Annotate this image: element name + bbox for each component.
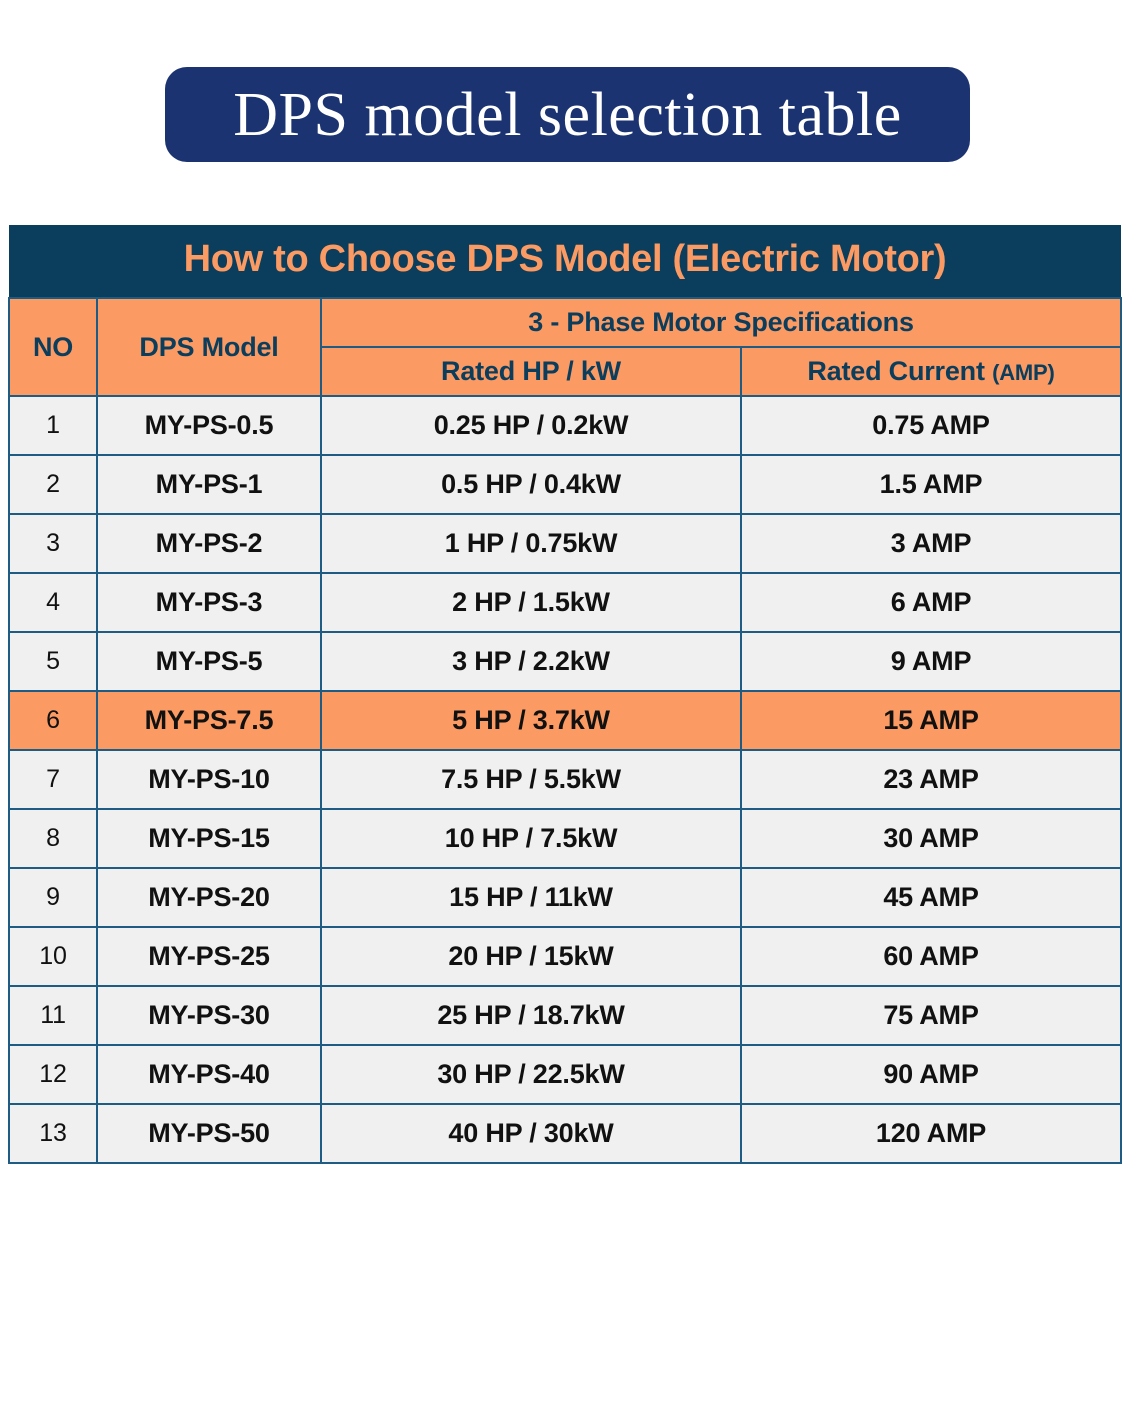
cell-rated-hp-kw: 1 HP / 0.75kW [321, 514, 741, 573]
table-row: 6MY-PS-7.55 HP / 3.7kW15 AMP [9, 691, 1121, 750]
column-group-header-motor-specs: 3 - Phase Motor Specifications [321, 298, 1121, 347]
cell-no: 13 [9, 1104, 97, 1163]
cell-rated-current: 120 AMP [741, 1104, 1121, 1163]
cell-rated-current: 0.75 AMP [741, 396, 1121, 455]
cell-dps-model: MY-PS-7.5 [97, 691, 321, 750]
column-header-rated-current: Rated Current (AMP) [741, 347, 1121, 396]
cell-no: 10 [9, 927, 97, 986]
cell-dps-model: MY-PS-20 [97, 868, 321, 927]
cell-rated-current: 23 AMP [741, 750, 1121, 809]
page-title: DPS model selection table [233, 84, 902, 146]
cell-rated-hp-kw: 7.5 HP / 5.5kW [321, 750, 741, 809]
cell-no: 12 [9, 1045, 97, 1104]
table-row: 9MY-PS-2015 HP / 11kW45 AMP [9, 868, 1121, 927]
page-title-banner: DPS model selection table [165, 67, 970, 162]
cell-rated-hp-kw: 0.25 HP / 0.2kW [321, 396, 741, 455]
cell-no: 3 [9, 514, 97, 573]
cell-dps-model: MY-PS-40 [97, 1045, 321, 1104]
cell-rated-hp-kw: 2 HP / 1.5kW [321, 573, 741, 632]
cell-rated-hp-kw: 10 HP / 7.5kW [321, 809, 741, 868]
cell-rated-hp-kw: 0.5 HP / 0.4kW [321, 455, 741, 514]
cell-no: 1 [9, 396, 97, 455]
dps-model-selection-table-container: How to Choose DPS Model (Electric Motor)… [8, 225, 1120, 1164]
table-body: 1MY-PS-0.50.25 HP / 0.2kW0.75 AMP2MY-PS-… [9, 396, 1121, 1163]
table-row: 3MY-PS-21 HP / 0.75kW3 AMP [9, 514, 1121, 573]
cell-dps-model: MY-PS-5 [97, 632, 321, 691]
cell-no: 9 [9, 868, 97, 927]
rated-current-unit: (AMP) [992, 360, 1055, 385]
table-row: 8MY-PS-1510 HP / 7.5kW30 AMP [9, 809, 1121, 868]
cell-no: 7 [9, 750, 97, 809]
cell-dps-model: MY-PS-15 [97, 809, 321, 868]
cell-rated-current: 9 AMP [741, 632, 1121, 691]
cell-rated-hp-kw: 15 HP / 11kW [321, 868, 741, 927]
cell-rated-hp-kw: 25 HP / 18.7kW [321, 986, 741, 1045]
cell-no: 4 [9, 573, 97, 632]
cell-rated-hp-kw: 3 HP / 2.2kW [321, 632, 741, 691]
table-row: 5MY-PS-53 HP / 2.2kW9 AMP [9, 632, 1121, 691]
cell-dps-model: MY-PS-30 [97, 986, 321, 1045]
table-caption: How to Choose DPS Model (Electric Motor) [9, 225, 1121, 298]
cell-rated-hp-kw: 30 HP / 22.5kW [321, 1045, 741, 1104]
table-row: 13MY-PS-5040 HP / 30kW120 AMP [9, 1104, 1121, 1163]
cell-rated-current: 90 AMP [741, 1045, 1121, 1104]
dps-model-selection-table: How to Choose DPS Model (Electric Motor)… [8, 225, 1122, 1164]
column-header-no: NO [9, 298, 97, 396]
cell-dps-model: MY-PS-3 [97, 573, 321, 632]
cell-rated-hp-kw: 5 HP / 3.7kW [321, 691, 741, 750]
cell-rated-current: 1.5 AMP [741, 455, 1121, 514]
cell-dps-model: MY-PS-10 [97, 750, 321, 809]
table-row: 4MY-PS-32 HP / 1.5kW6 AMP [9, 573, 1121, 632]
table-header: How to Choose DPS Model (Electric Motor)… [9, 225, 1121, 396]
cell-rated-current: 30 AMP [741, 809, 1121, 868]
rated-current-label: Rated Current [807, 356, 984, 386]
table-row: 7MY-PS-107.5 HP / 5.5kW23 AMP [9, 750, 1121, 809]
cell-dps-model: MY-PS-25 [97, 927, 321, 986]
table-row: 12MY-PS-4030 HP / 22.5kW90 AMP [9, 1045, 1121, 1104]
cell-no: 8 [9, 809, 97, 868]
column-header-rated-hp-kw: Rated HP / kW [321, 347, 741, 396]
cell-rated-hp-kw: 40 HP / 30kW [321, 1104, 741, 1163]
table-row: 2MY-PS-10.5 HP / 0.4kW1.5 AMP [9, 455, 1121, 514]
cell-no: 6 [9, 691, 97, 750]
table-row: 10MY-PS-2520 HP / 15kW60 AMP [9, 927, 1121, 986]
table-row: 1MY-PS-0.50.25 HP / 0.2kW0.75 AMP [9, 396, 1121, 455]
cell-no: 11 [9, 986, 97, 1045]
cell-rated-current: 6 AMP [741, 573, 1121, 632]
cell-dps-model: MY-PS-1 [97, 455, 321, 514]
cell-no: 5 [9, 632, 97, 691]
cell-dps-model: MY-PS-50 [97, 1104, 321, 1163]
header-row-primary: NO DPS Model 3 - Phase Motor Specificati… [9, 298, 1121, 347]
cell-rated-current: 60 AMP [741, 927, 1121, 986]
cell-rated-current: 3 AMP [741, 514, 1121, 573]
table-caption-row: How to Choose DPS Model (Electric Motor) [9, 225, 1121, 298]
cell-rated-current: 75 AMP [741, 986, 1121, 1045]
column-header-dps-model: DPS Model [97, 298, 321, 396]
cell-dps-model: MY-PS-0.5 [97, 396, 321, 455]
cell-rated-current: 15 AMP [741, 691, 1121, 750]
cell-dps-model: MY-PS-2 [97, 514, 321, 573]
table-row: 11MY-PS-3025 HP / 18.7kW75 AMP [9, 986, 1121, 1045]
cell-no: 2 [9, 455, 97, 514]
cell-rated-current: 45 AMP [741, 868, 1121, 927]
cell-rated-hp-kw: 20 HP / 15kW [321, 927, 741, 986]
